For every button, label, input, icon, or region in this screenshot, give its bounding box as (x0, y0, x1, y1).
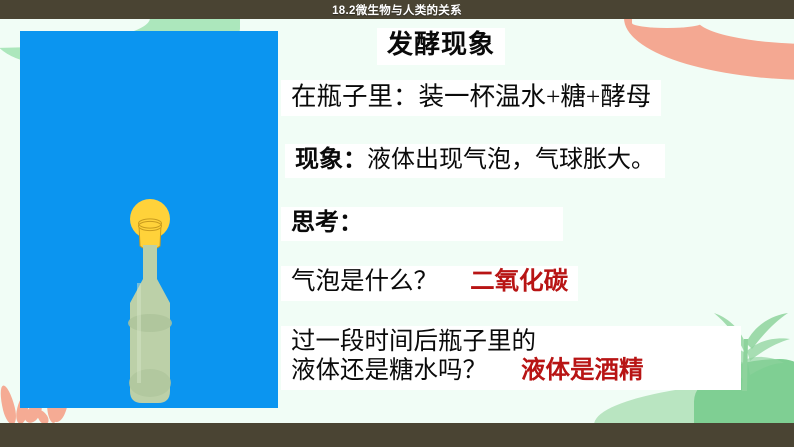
question-two-line2-row: 液体还是糖水吗？ 液体是酒精 (291, 357, 731, 386)
liquid-surface (128, 314, 172, 332)
fermentation-bottle-illustration (20, 31, 278, 408)
slide-footer-bar (0, 423, 794, 447)
think-label: 思考： (281, 207, 563, 241)
question-two-row: 过一段时间后瓶子里的 液体还是糖水吗？ 液体是酒精 (281, 326, 741, 390)
observation-text: 液体出现气泡，气球胀大。 (367, 147, 655, 173)
question-one-row: 气泡是什么？ 二氧化碳 (281, 266, 578, 301)
content-title: 发酵现象 (377, 28, 505, 65)
answer-two-text: 液体是酒精 (521, 357, 644, 386)
observation-line: 现象：液体出现气泡，气球胀大。 (285, 144, 665, 178)
decoration-petal-icon (0, 384, 19, 426)
question-one-text: 气泡是什么？ (291, 268, 438, 295)
setup-line: 在瓶子里：装一杯温水+糖+酵母 (281, 80, 661, 116)
illustration-panel (20, 31, 278, 408)
bottle-bottom-shading (129, 369, 171, 397)
slide-canvas: 18.2微生物与人类的关系 发酵现象 在瓶子里：装一杯温水+糖+酵母 现象：液体… (0, 0, 794, 447)
answer-one-text: 二氧化碳 (470, 268, 568, 295)
question-two-line1: 过一段时间后瓶子里的 (291, 328, 731, 357)
slide-header-bar: 18.2微生物与人类的关系 (0, 0, 794, 19)
observation-label: 现象： (295, 147, 367, 173)
question-two-line2: 液体还是糖水吗？ (291, 357, 487, 386)
content-text-column: 发酵现象 在瓶子里：装一杯温水+糖+酵母 现象：液体出现气泡，气球胀大。 思考：… (279, 26, 779, 412)
page-title: 18.2微生物与人类的关系 (332, 2, 462, 18)
